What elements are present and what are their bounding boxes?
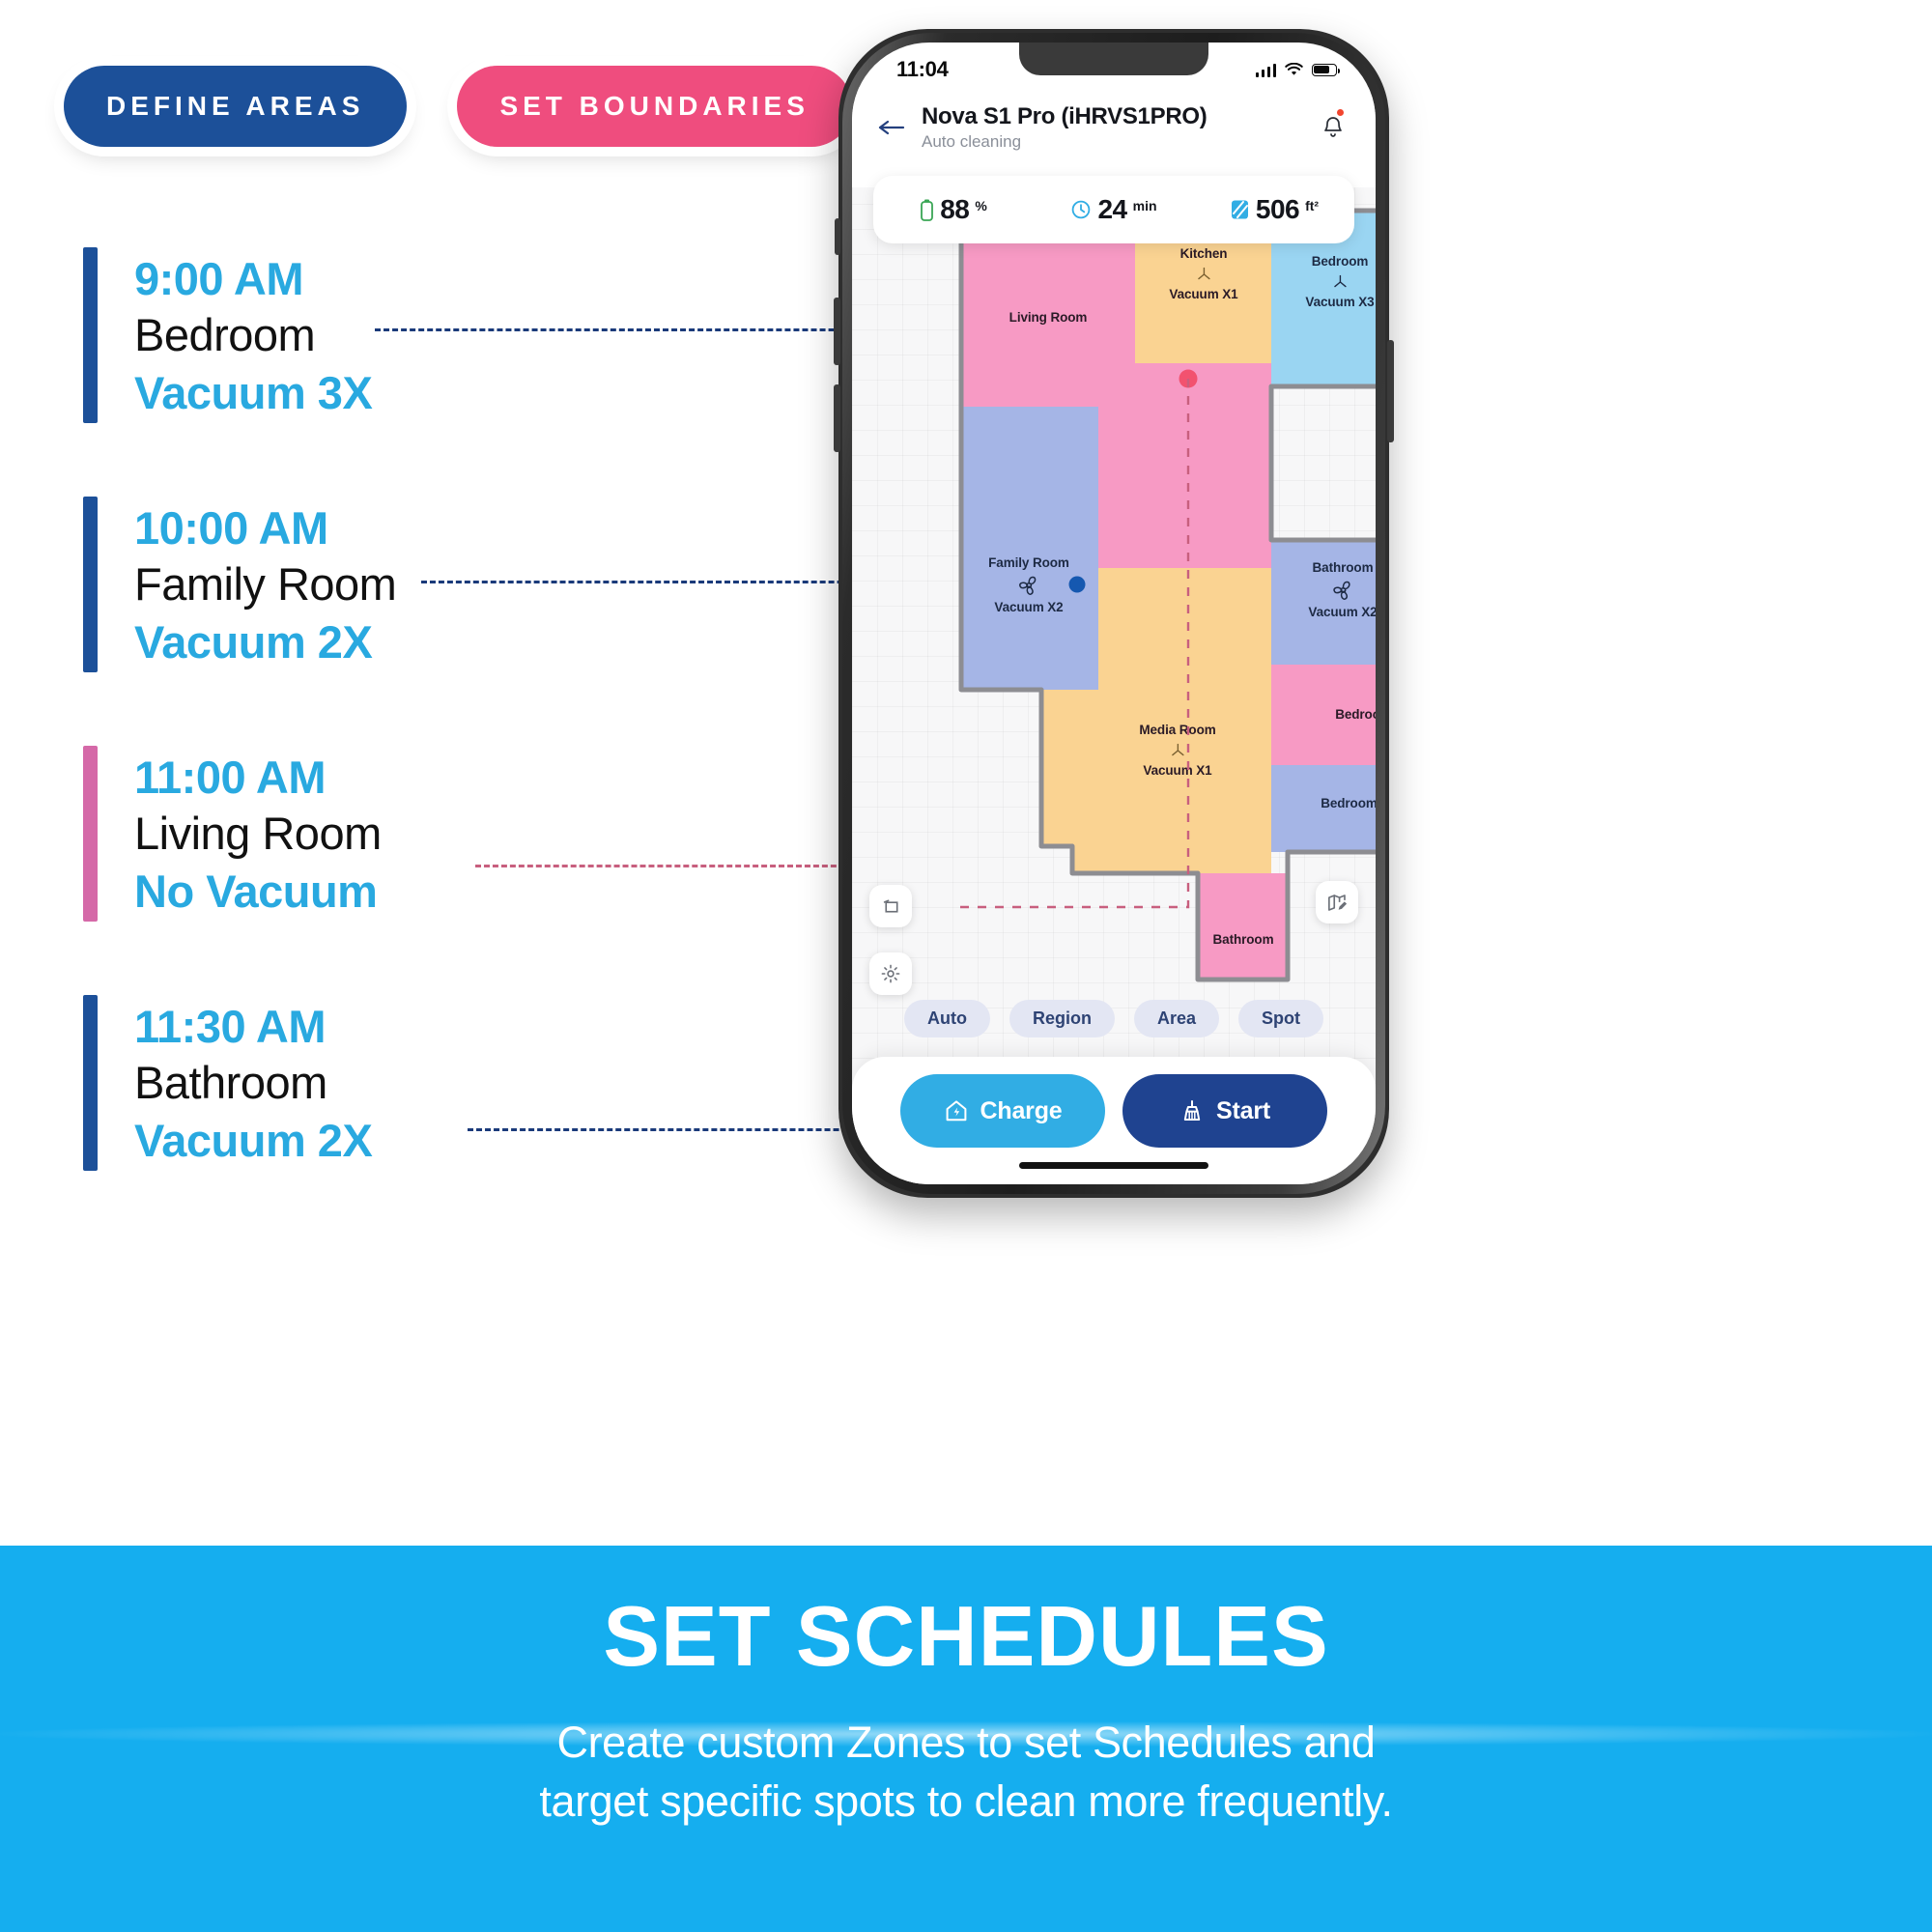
battery-icon [920,198,934,222]
phone-device: 11:04 Nova S1 Pro (iHRVS1PRO) Auto [838,29,1389,1198]
schedule-time: 10:00 AM [134,500,396,555]
start-label: Start [1216,1097,1270,1125]
status-icons [1256,63,1338,77]
room-shape-family-room [961,407,1098,690]
schedule-item: 10:00 AM Family Room Vacuum 2X [83,497,721,672]
notification-bell-button[interactable] [1310,115,1345,140]
mute-switch[interactable] [835,218,840,255]
room-shape-media-room [1098,568,1271,873]
schedule-accent-bar [83,497,98,672]
schedule-accent-bar [83,746,98,922]
bottom-banner: SET SCHEDULES Create custom Zones to set… [0,1546,1932,1932]
pill-set-boundaries[interactable]: SET BOUNDARIES [457,66,851,147]
schedule-time: 11:00 AM [134,750,382,805]
mode-chip-region[interactable]: Region [1009,1000,1115,1037]
mode-chip-auto[interactable]: Auto [904,1000,990,1037]
schedule-time: 11:30 AM [134,999,372,1054]
edit-map-button[interactable] [1316,881,1358,923]
mode-chip-area[interactable]: Area [1134,1000,1219,1037]
crop-icon [881,896,901,917]
page-subtitle: Auto cleaning [922,132,1310,152]
charge-home-icon [944,1098,969,1123]
bell-icon [1321,115,1345,140]
room-shape-bedroom-2 [1271,765,1376,852]
mode-chip-spot[interactable]: Spot [1238,1000,1323,1037]
action-bar: Charge Start [852,1057,1376,1184]
area-icon [1230,198,1250,221]
volume-up-button[interactable] [834,298,840,365]
charge-button[interactable]: Charge [900,1074,1105,1148]
phone-notch [1019,43,1208,75]
clock-icon [1070,199,1092,220]
schedule-accent-bar [83,995,98,1171]
battery-icon [1312,64,1337,76]
schedule-time: 9:00 AM [134,251,372,306]
gear-icon [880,963,901,984]
stat-value: 506 [1256,194,1299,225]
cleaning-mode-chips: Auto Region Area Spot [852,1000,1376,1037]
stat-unit: % [975,198,986,213]
power-button[interactable] [1387,340,1394,442]
stat-value: 24 [1097,194,1126,225]
stat-area: 506 ft² [1194,194,1354,225]
schedule-room: Family Room [134,555,396,612]
zone-marker-family-room[interactable] [1069,577,1086,593]
stat-unit: min [1133,198,1157,213]
schedule-mode: Vacuum 2X [134,1112,372,1169]
phone-screen: 11:04 Nova S1 Pro (iHRVS1PRO) Auto [852,43,1376,1184]
stat-time: 24 min [1034,194,1194,225]
category-pill-row: DEFINE AREAS SET BOUNDARIES [64,66,852,147]
schedule-list: 9:00 AM Bedroom Vacuum 3X 10:00 AM Famil… [83,247,721,1244]
map-settings-button[interactable] [869,952,912,995]
banner-subtitle-line1: Create custom Zones to set Schedules and [0,1714,1932,1773]
schedule-mode: No Vacuum [134,863,382,920]
home-indicator[interactable] [1019,1162,1208,1169]
schedule-accent-bar [83,247,98,423]
crop-map-button[interactable] [869,885,912,927]
charge-label: Charge [980,1097,1063,1125]
schedule-item: 11:30 AM Bathroom Vacuum 2X [83,995,721,1171]
schedule-room: Bedroom [134,306,372,363]
schedule-item: 9:00 AM Bedroom Vacuum 3X [83,247,721,423]
room-shape-bedroom-1 [1271,665,1376,765]
back-arrow-icon[interactable] [877,118,916,137]
banner-subtitle: Create custom Zones to set Schedules and… [0,1714,1932,1832]
schedule-mode: Vacuum 2X [134,613,396,670]
page-title: Nova S1 Pro (iHRVS1PRO) [922,103,1310,130]
banner-title: SET SCHEDULES [0,1592,1932,1681]
wifi-icon [1285,63,1303,76]
map-canvas[interactable]: Living Room Kitchen Vacuum X1 Bedroom Va… [852,187,1376,1184]
banner-subtitle-line2: target specific spots to clean more freq… [0,1773,1932,1832]
stat-value: 88 [940,194,969,225]
schedule-room: Living Room [134,805,382,862]
cellular-bars-icon [1256,63,1277,77]
robot-marker[interactable] [1179,370,1198,388]
app-header: Nova S1 Pro (iHRVS1PRO) Auto cleaning [852,87,1376,168]
schedule-room: Bathroom [134,1054,372,1111]
room-shape-bathroom-mid [1271,540,1376,665]
schedule-item: 11:00 AM Living Room No Vacuum [83,746,721,922]
volume-down-button[interactable] [834,384,840,452]
stat-battery: 88 % [873,194,1034,225]
broom-icon [1179,1098,1205,1123]
pill-define-areas[interactable]: DEFINE AREAS [64,66,407,147]
room-shape-bathroom-bottom [1198,873,1288,980]
header-text-block: Nova S1 Pro (iHRVS1PRO) Auto cleaning [916,103,1310,152]
notification-dot [1337,109,1344,116]
start-button[interactable]: Start [1122,1074,1327,1148]
stat-unit: ft² [1305,198,1319,213]
stats-card: 88 % 24 min 506 ft² [873,176,1354,243]
room-shape-hall [1135,363,1271,568]
map-edit-icon [1326,892,1349,914]
status-time: 11:04 [896,57,949,82]
schedule-mode: Vacuum 3X [134,364,372,421]
